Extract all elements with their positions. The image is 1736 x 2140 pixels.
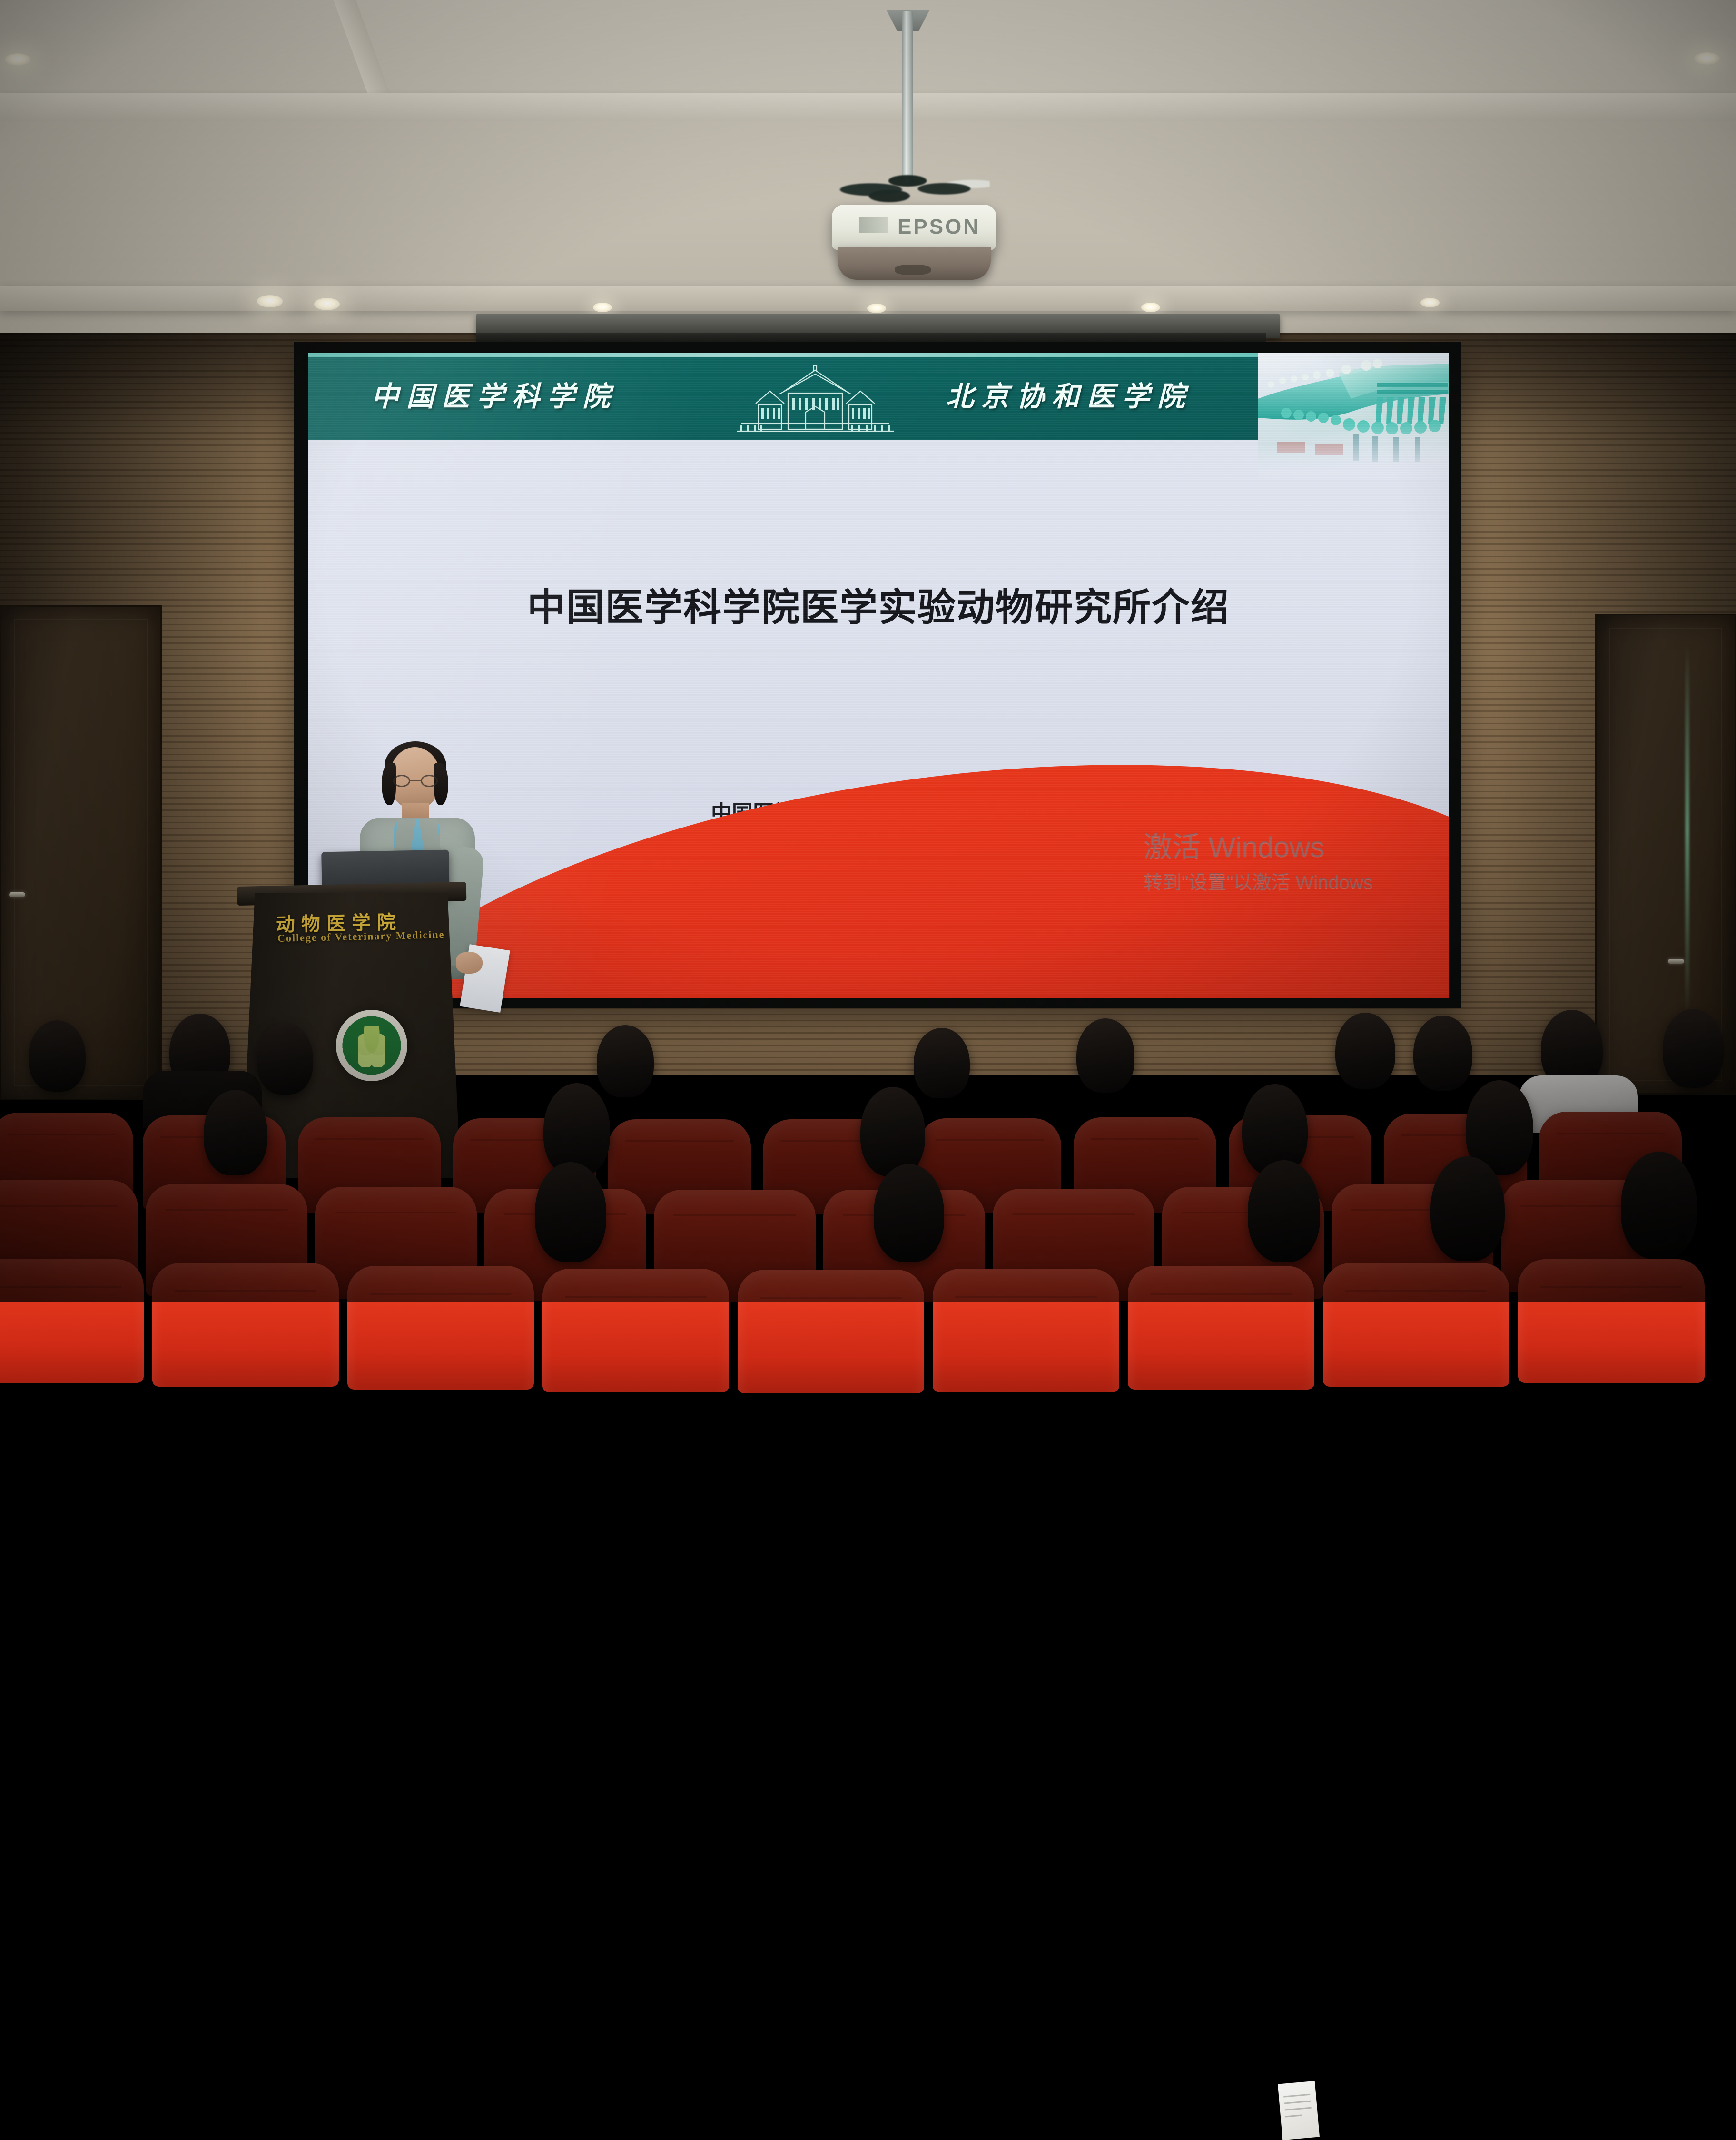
- auditorium-seat[interactable]: [347, 1266, 534, 1390]
- ceiling-downlight: [314, 298, 340, 310]
- audience-head: [1663, 1009, 1724, 1088]
- projector-logo-mark-icon: [859, 217, 888, 233]
- auditorium-seat[interactable]: [1518, 1259, 1705, 1383]
- slide-header-band: 中国医学科学院 北京协和医学院: [308, 353, 1258, 440]
- glasses-icon: [393, 775, 438, 787]
- lecture-hall-scene: EPSON 中国医学科学院 北京协和医学院: [0, 0, 1736, 1302]
- auditorium-seat[interactable]: [1128, 1266, 1314, 1390]
- audience-head: [204, 1090, 267, 1175]
- projector-mount-pole: [902, 11, 913, 183]
- traditional-roof-photo: [1258, 353, 1449, 479]
- ceiling-downlight: [5, 53, 30, 66]
- audience-head: [860, 1087, 925, 1176]
- door-edge-light: [1685, 644, 1689, 1016]
- slide-header-highlight: [308, 353, 1258, 357]
- door-panel: [14, 619, 148, 1086]
- presenter-hand: [456, 952, 483, 974]
- audience-head: [1430, 1156, 1505, 1261]
- ceiling-downlight: [867, 304, 886, 313]
- projector-cable-bundle: [838, 166, 990, 206]
- auditorium-seat[interactable]: [738, 1270, 924, 1393]
- audience-head: [1413, 1016, 1472, 1091]
- audience-head: [597, 1025, 654, 1097]
- auditorium-seat[interactable]: [933, 1269, 1119, 1392]
- audience-head: [1621, 1152, 1697, 1259]
- ceiling-downlight: [1420, 298, 1440, 307]
- slide-title: 中国医学科学院医学实验动物研究所介绍: [308, 577, 1449, 632]
- door-left[interactable]: [0, 605, 162, 1100]
- slide-header-left-text: 中国医学科学院: [371, 374, 618, 414]
- audience-head: [1335, 1013, 1395, 1089]
- audience-head: [257, 1023, 313, 1095]
- audience-seating: [0, 1037, 1736, 1302]
- door-handle-icon[interactable]: [1668, 959, 1684, 964]
- projector-brand-label: EPSON: [898, 215, 980, 239]
- auditorium-seat[interactable]: [0, 1259, 144, 1383]
- audience-head: [29, 1020, 86, 1092]
- audience-head: [535, 1162, 606, 1262]
- ceiling-downlight: [1694, 52, 1720, 65]
- door-handle-icon[interactable]: [9, 892, 25, 897]
- auditorium-seat[interactable]: [542, 1269, 729, 1392]
- audience-head: [914, 1028, 970, 1098]
- audience-head: [1076, 1018, 1134, 1093]
- auditorium-seat[interactable]: [152, 1263, 339, 1387]
- ceiling-beam-upper: [0, 93, 1736, 121]
- pumc-building-illustration: [708, 360, 922, 440]
- ceiling-downlight: [257, 295, 283, 307]
- projector-lens-icon: [895, 265, 931, 275]
- ceiling-downlight: [593, 303, 612, 312]
- audience-handout[interactable]: [1278, 2081, 1320, 2140]
- auditorium-seat[interactable]: [1323, 1263, 1509, 1387]
- ceiling-downlight: [1141, 303, 1160, 312]
- audience-head: [1248, 1160, 1320, 1262]
- audience-head: [874, 1164, 944, 1262]
- slide-header-right-text: 北京协和医学院: [946, 374, 1193, 414]
